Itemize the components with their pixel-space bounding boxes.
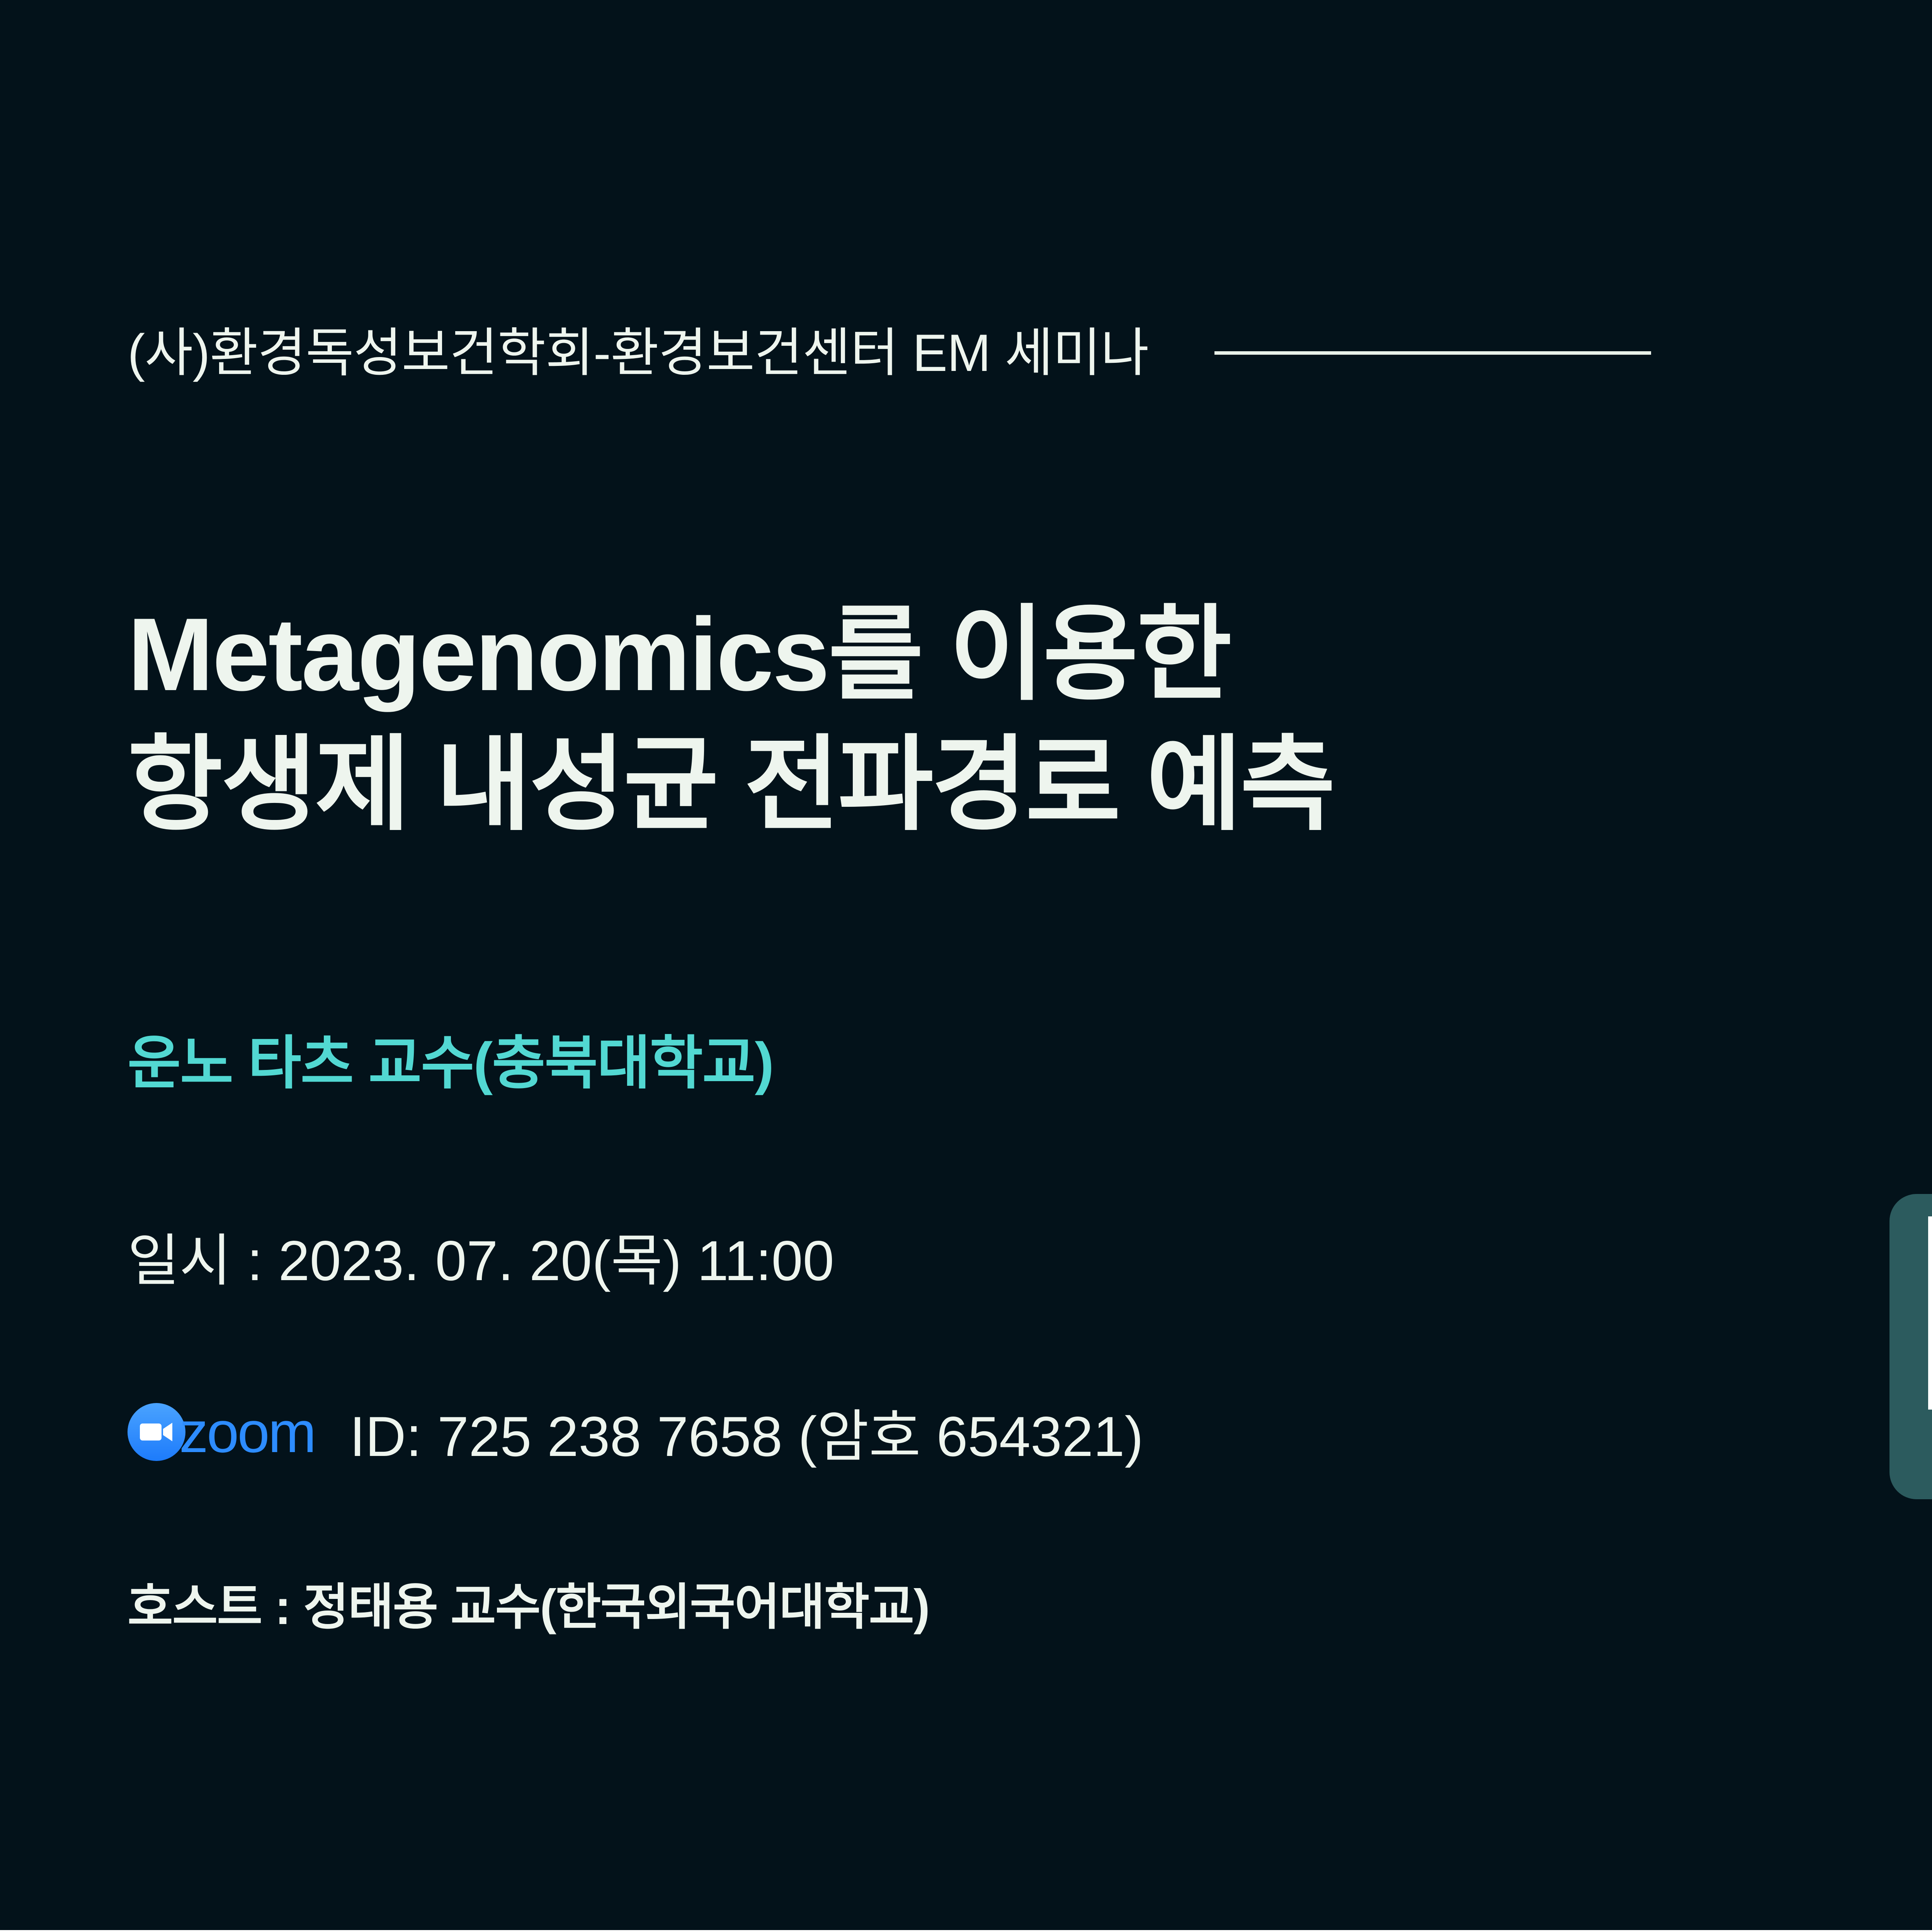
poster-stage: (사)환경독성보건학회-환경보건센터 EM 세미나 Metagenomics를 … [0,0,1932,1930]
host-name: 호스트 : 정태용 교수(한국외국어대학교) [128,1567,929,1638]
qr-code-image[interactable] [1928,1216,1932,1410]
title-line-2: 항생제 내성균 전파경로 예측 [128,719,1334,850]
seminar-kicker: (사)환경독성보건학회-환경보건센터 EM 세미나 [128,327,1149,379]
kicker-rule-divider [1214,351,1651,355]
video-camera-icon [128,1403,185,1461]
footer-logo-bar: 환경부 since 1985 환경독성보건학회 [0,1930,1932,1932]
page-title: Metagenomics를 이용한 항생제 내성균 전파경로 예측 [128,589,1334,850]
speaker-name: 운노 타츠 교수(충북대학교) [128,1016,773,1100]
zoom-meeting-row: zoom ID: 725 238 7658 (암호 654321) [128,1391,1143,1473]
zoom-meeting-id: ID: 725 238 7658 (암호 654321) [350,1391,1143,1473]
poster-content: (사)환경독성보건학회-환경보건센터 EM 세미나 Metagenomics를 … [128,0,1932,1930]
zoom-qr-panel[interactable]: ZOOM QR 접속 [1889,1194,1932,1499]
zoom-wordmark: zoom [179,1403,315,1461]
zoom-logo: zoom [128,1403,315,1461]
kicker-row: (사)환경독성보건학회-환경보건센터 EM 세미나 [128,327,1651,379]
title-line-1: Metagenomics를 이용한 [128,589,1334,720]
seminar-datetime: 일시 : 2023. 07. 20(목) 11:00 [128,1215,834,1297]
seminar-poster: (사)환경독성보건학회-환경보건센터 EM 세미나 Metagenomics를 … [0,0,1932,1932]
